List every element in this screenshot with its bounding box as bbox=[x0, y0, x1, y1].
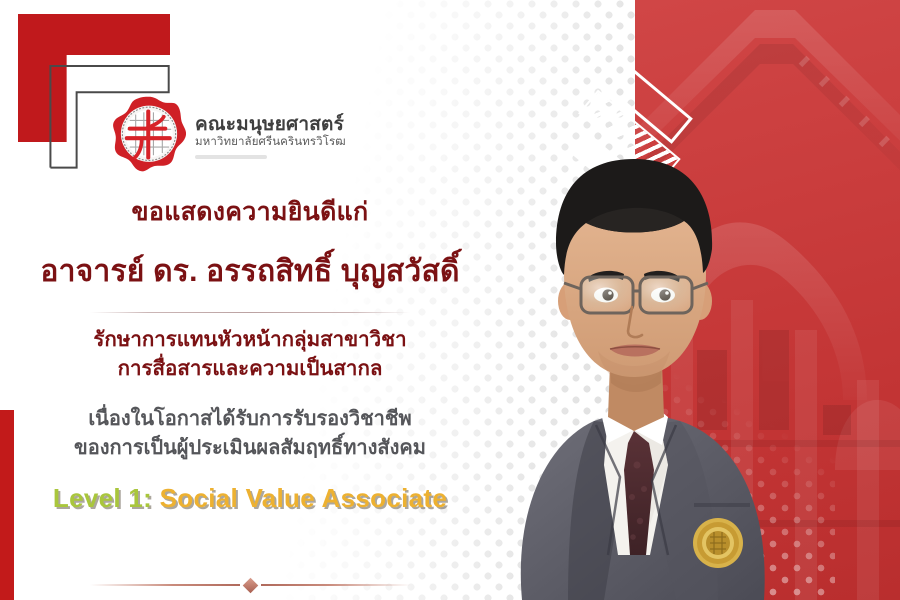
university-crest-badge bbox=[693, 518, 743, 568]
logo-underline-rule bbox=[195, 155, 267, 159]
ornament-diamond-icon bbox=[242, 577, 258, 593]
thin-divider bbox=[90, 312, 410, 313]
level-number: Level 1: bbox=[53, 483, 152, 513]
faculty-seal-icon bbox=[112, 95, 186, 177]
ornament-line-right bbox=[261, 584, 411, 586]
logo-faculty-name: คณะมนุษยศาสตร์ bbox=[195, 115, 346, 134]
honoree-portrait bbox=[418, 125, 848, 600]
level-title: Social Value Associate bbox=[152, 483, 447, 513]
ornament-line-left bbox=[90, 584, 240, 586]
faculty-logo-lockup: คณะมนุษยศาสตร์ มหาวิทยาลัยศรีนครินทรวิโร… bbox=[112, 95, 346, 177]
logo-text-block: คณะมนุษยศาสตร์ มหาวิทยาลัยศรีนครินทรวิโร… bbox=[195, 113, 346, 159]
ornament-divider bbox=[60, 578, 440, 592]
congratulations-card: คณะมนุษยศาสตร์ มหาวิทยาลัยศรีนครินทรวิโร… bbox=[0, 0, 900, 600]
logo-university-name: มหาวิทยาลัยศรีนครินทรวิโรฒ bbox=[195, 137, 346, 149]
